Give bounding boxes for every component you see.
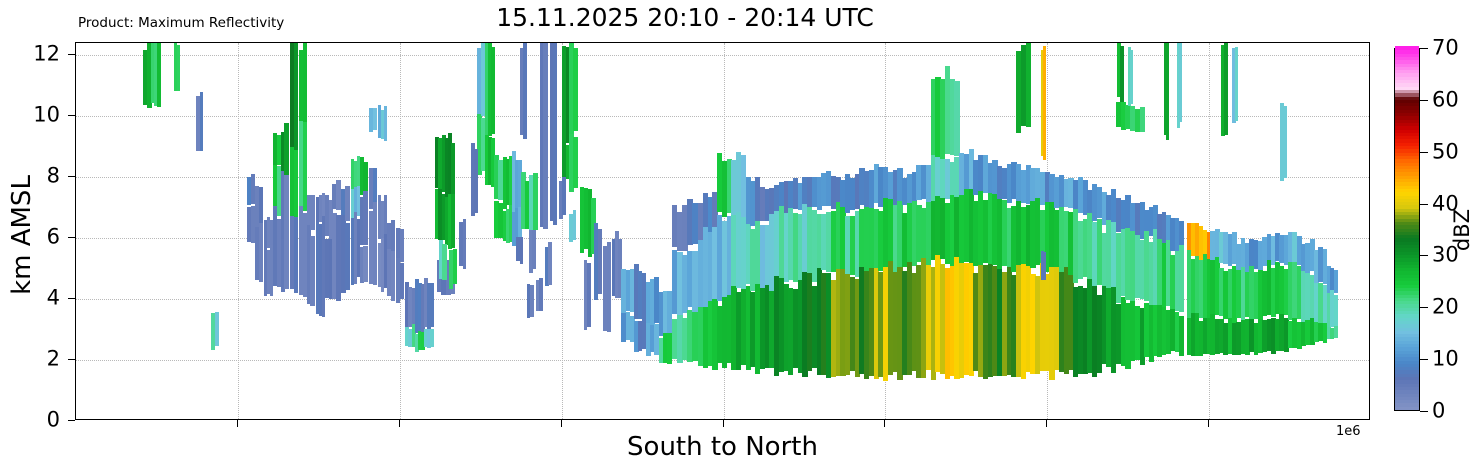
colorbar-tick-label: 10 — [1432, 349, 1459, 370]
reflectivity-cell — [1235, 47, 1238, 121]
reflectivity-cell — [336, 215, 340, 301]
reflectivity-cell — [451, 194, 455, 248]
colorbar-tick-mark — [1420, 48, 1428, 49]
reflectivity-cell — [1043, 46, 1046, 160]
reflectivity-cell — [491, 47, 495, 134]
reflectivity-cell — [1179, 245, 1184, 312]
colorbar-tick-label: 70 — [1432, 38, 1459, 59]
reflectivity-cell — [310, 195, 314, 230]
colorbar-tick-mark — [1420, 100, 1428, 101]
colorbar-tick-mark — [1420, 307, 1428, 308]
reflectivity-cell — [259, 187, 263, 227]
reflectivity-cell — [294, 217, 298, 292]
reflectivity-cell — [530, 285, 534, 317]
y-tick-label: 10 — [14, 105, 60, 126]
y-tick-mark — [68, 359, 75, 360]
y-tick-label: 0 — [14, 410, 60, 431]
reflectivity-cell — [1043, 252, 1046, 280]
reflectivity-cell — [294, 43, 298, 151]
colorbar-tick-mark — [1420, 359, 1428, 360]
reflectivity-cell — [384, 106, 388, 140]
colorbar-tick-mark — [1420, 255, 1428, 256]
reflectivity-cell — [533, 173, 537, 230]
reflectivity-cell — [954, 81, 959, 156]
reflectivity-cell — [573, 210, 577, 240]
x-tick-mark — [884, 420, 885, 427]
reflectivity-cell — [373, 202, 377, 285]
colorbar-tick-mark — [1420, 411, 1428, 412]
reflectivity-cell — [1140, 107, 1145, 132]
reflectivity-cell — [303, 43, 307, 126]
reflectivity-cell — [259, 223, 263, 282]
colorbar-tick-label: 20 — [1432, 297, 1459, 318]
reflectivity-cell — [400, 263, 404, 300]
reflectivity-cell — [284, 234, 288, 289]
reflectivity-cell — [451, 143, 455, 195]
reflectivity-cell — [1179, 316, 1184, 356]
plot-area[interactable] — [75, 42, 1370, 420]
reflectivity-cell — [336, 180, 340, 209]
reflectivity-cell — [200, 92, 204, 151]
y-tick-label: 2 — [14, 349, 60, 370]
reflectivity-cell — [284, 175, 288, 235]
x-axis-offset-text: 1e6 — [1336, 424, 1361, 439]
reflectivity-cell — [1334, 270, 1338, 293]
reflectivity-cell — [391, 251, 395, 301]
colorbar-tick-label: 0 — [1432, 401, 1445, 422]
x-tick-mark — [1208, 420, 1209, 427]
reflectivity-cell — [442, 244, 446, 280]
reflectivity-cell — [215, 312, 219, 346]
reflectivity-cell — [345, 186, 349, 221]
reflectivity-cell — [363, 191, 367, 245]
reflectivity-cell — [543, 43, 547, 229]
y-tick-label: 12 — [14, 44, 60, 65]
reflectivity-cell — [400, 229, 404, 261]
reflectivity-cell — [1026, 43, 1031, 127]
reflectivity-cell — [1120, 46, 1124, 101]
reflectivity-cell — [1334, 326, 1338, 338]
reflectivity-cell — [1284, 106, 1288, 179]
reflectivity-cell — [498, 160, 502, 199]
reflectivity-cell — [520, 237, 524, 263]
reflectivity-cell — [391, 220, 395, 255]
product-label: Product: Maximum Reflectivity — [78, 15, 284, 31]
reflectivity-cell — [453, 249, 457, 285]
y-axis-label: km AMSL — [7, 175, 37, 295]
reflectivity-cell — [430, 283, 434, 327]
reflectivity-cell — [607, 242, 611, 331]
reflectivity-cell — [474, 149, 478, 213]
reflectivity-cell — [373, 108, 377, 130]
radar-cross-section-figure: 15.11.2025 20:10 - 20:14 UTC Product: Ma… — [0, 0, 1482, 470]
reflectivity-cell — [157, 43, 161, 107]
reflectivity-cell — [310, 236, 314, 306]
colorbar-tick-label: 50 — [1432, 141, 1459, 162]
reflectivity-cell — [539, 278, 543, 311]
reflectivity-cell — [463, 219, 467, 269]
reflectivity-cell — [553, 43, 557, 225]
colorbar-tick-mark — [1420, 204, 1428, 205]
reflectivity-cell — [523, 43, 527, 139]
reflectivity-cell — [284, 123, 288, 175]
reflectivity-cell — [1179, 43, 1182, 122]
reflectivity-cell — [363, 246, 367, 282]
x-tick-mark — [1046, 420, 1047, 427]
colorbar-title: dBZ — [1450, 209, 1474, 251]
reflectivity-cell — [548, 242, 552, 285]
y-tick-mark — [68, 176, 75, 177]
reflectivity-cell — [177, 45, 180, 90]
reflectivity-cell — [430, 329, 434, 347]
x-axis-label: South to North — [75, 432, 1370, 462]
x-tick-mark — [237, 420, 238, 427]
reflectivity-cell — [1130, 50, 1133, 104]
x-tick-mark — [723, 420, 724, 427]
reflectivity-cell — [498, 203, 502, 238]
reflectivity-cell — [373, 168, 377, 206]
colorbar-tick-label: 60 — [1432, 89, 1459, 110]
y-tick-mark — [68, 54, 75, 55]
reflectivity-cell — [294, 150, 298, 225]
reflectivity-cell — [598, 229, 602, 294]
reflectivity-cell — [1166, 43, 1169, 140]
reflectivity-cell — [573, 137, 577, 188]
reflectivity-cells — [76, 43, 1369, 419]
reflectivity-cell — [562, 177, 566, 215]
y-tick-mark — [68, 237, 75, 238]
y-tick-mark — [68, 420, 75, 421]
reflectivity-cell — [532, 225, 536, 269]
reflectivity-cell — [587, 263, 591, 327]
x-tick-mark — [561, 420, 562, 427]
y-tick-mark — [68, 298, 75, 299]
reflectivity-cell — [345, 223, 349, 291]
y-tick-mark — [68, 115, 75, 116]
reflectivity-cell — [573, 48, 577, 131]
reflectivity-cell — [1224, 43, 1228, 135]
reflectivity-cell — [1334, 295, 1338, 328]
colorbar-tick-mark — [1420, 152, 1428, 153]
x-tick-mark — [399, 420, 400, 427]
